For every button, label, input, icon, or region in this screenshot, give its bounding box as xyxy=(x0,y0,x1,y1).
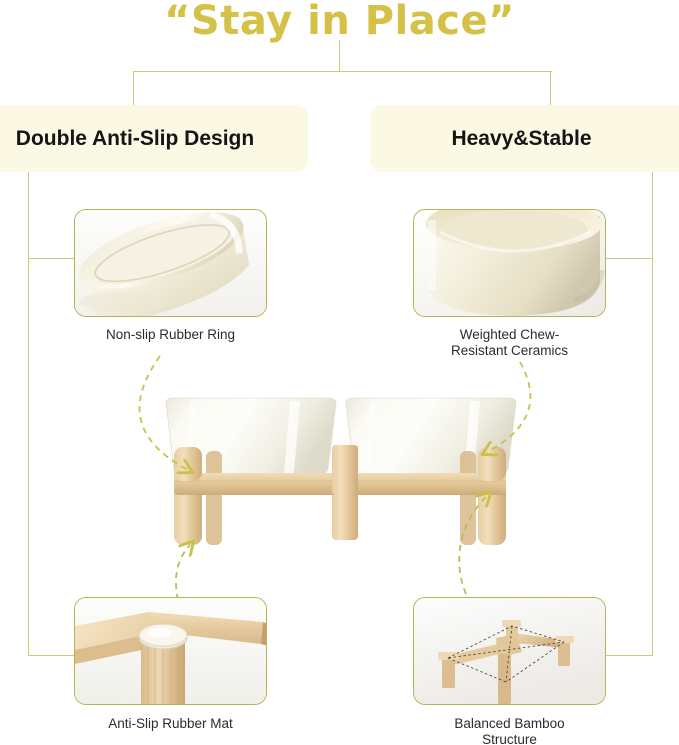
double-bowl-stand-illustration xyxy=(150,385,530,550)
left-branch-to-bottom-photo xyxy=(28,655,75,656)
caption-line-2: Structure xyxy=(393,732,626,745)
caption-anti-slip-rubber-mat: Anti-Slip Rubber Mat xyxy=(54,716,287,732)
infographic-page: “Stay in Place” Double Anti-Slip Design … xyxy=(0,0,679,745)
photo-anti-slip-rubber-mat xyxy=(75,598,266,704)
bowl-rubber-ring-illustration xyxy=(75,210,266,316)
photo-frame-balanced-bamboo-structure xyxy=(413,597,606,705)
photo-frame-non-slip-rubber-ring xyxy=(74,209,267,317)
branch-label-text: Double Anti-Slip Design xyxy=(16,127,270,151)
photo-weighted-chew-resistant-ceramics xyxy=(414,210,605,316)
branch-label-text: Heavy&Stable xyxy=(451,127,619,151)
right-branch-to-bottom-photo xyxy=(605,655,653,656)
photo-frame-weighted-ceramics xyxy=(413,209,606,317)
photo-frame-anti-slip-rubber-mat xyxy=(74,597,267,705)
left-branch-to-top-photo xyxy=(28,258,75,259)
bowl-interior-illustration xyxy=(414,210,605,316)
photo-balanced-bamboo-structure xyxy=(414,598,605,704)
bamboo-frame-illustration xyxy=(414,598,605,704)
photo-non-slip-rubber-ring xyxy=(75,210,266,316)
connector-horizontal-bar xyxy=(133,71,552,72)
caption-line-1: Balanced Bamboo xyxy=(393,716,626,732)
right-spine xyxy=(652,172,653,656)
caption-balanced-bamboo-structure: Balanced Bamboo Structure xyxy=(393,716,626,745)
leg-joint-rubber-pad-illustration xyxy=(75,598,266,704)
branch-label-heavy-and-stable[interactable]: Heavy&Stable xyxy=(370,105,679,172)
caption-weighted-chew-resistant-ceramics: Weighted Chew- Resistant Ceramics xyxy=(393,327,626,358)
arrow-anti-slip-rubber-mat xyxy=(176,545,190,600)
caption-line-1: Weighted Chew- xyxy=(393,327,626,343)
caption-line-2: Resistant Ceramics xyxy=(393,343,626,359)
connector-title-stem xyxy=(339,40,340,72)
hero-product-image xyxy=(150,385,530,550)
branch-label-double-anti-slip-design[interactable]: Double Anti-Slip Design xyxy=(0,105,308,172)
caption-non-slip-rubber-ring: Non-slip Rubber Ring xyxy=(54,327,287,343)
page-title: “Stay in Place” xyxy=(0,0,679,44)
right-branch-to-top-photo xyxy=(605,258,653,259)
left-spine xyxy=(28,172,29,656)
